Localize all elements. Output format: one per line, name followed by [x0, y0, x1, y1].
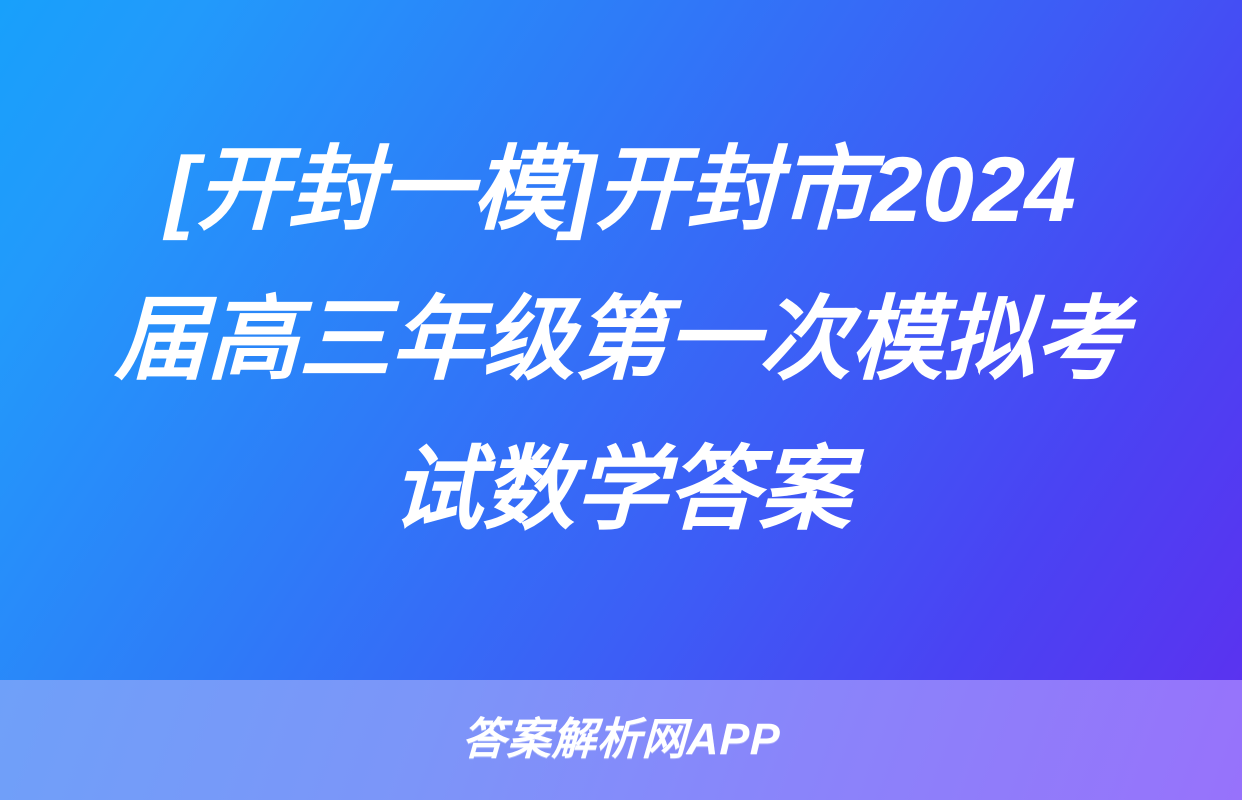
title-line-1: [开封一模]开封市2024 [95, 115, 1148, 265]
app-brand-label: 答案解析网APP [461, 715, 781, 765]
title-line-3: 试数学答案 [95, 415, 1148, 565]
hero-gradient-panel: [开封一模]开封市2024 届高三年级第一次模拟考 试数学答案 [0, 0, 1242, 680]
footer-band: 答案解析网APP [0, 680, 1242, 800]
title-line-2: 届高三年级第一次模拟考 [95, 265, 1148, 415]
poster-card: [开封一模]开封市2024 届高三年级第一次模拟考 试数学答案 答案解析网APP [0, 0, 1242, 800]
page-title: [开封一模]开封市2024 届高三年级第一次模拟考 试数学答案 [96, 115, 1146, 565]
